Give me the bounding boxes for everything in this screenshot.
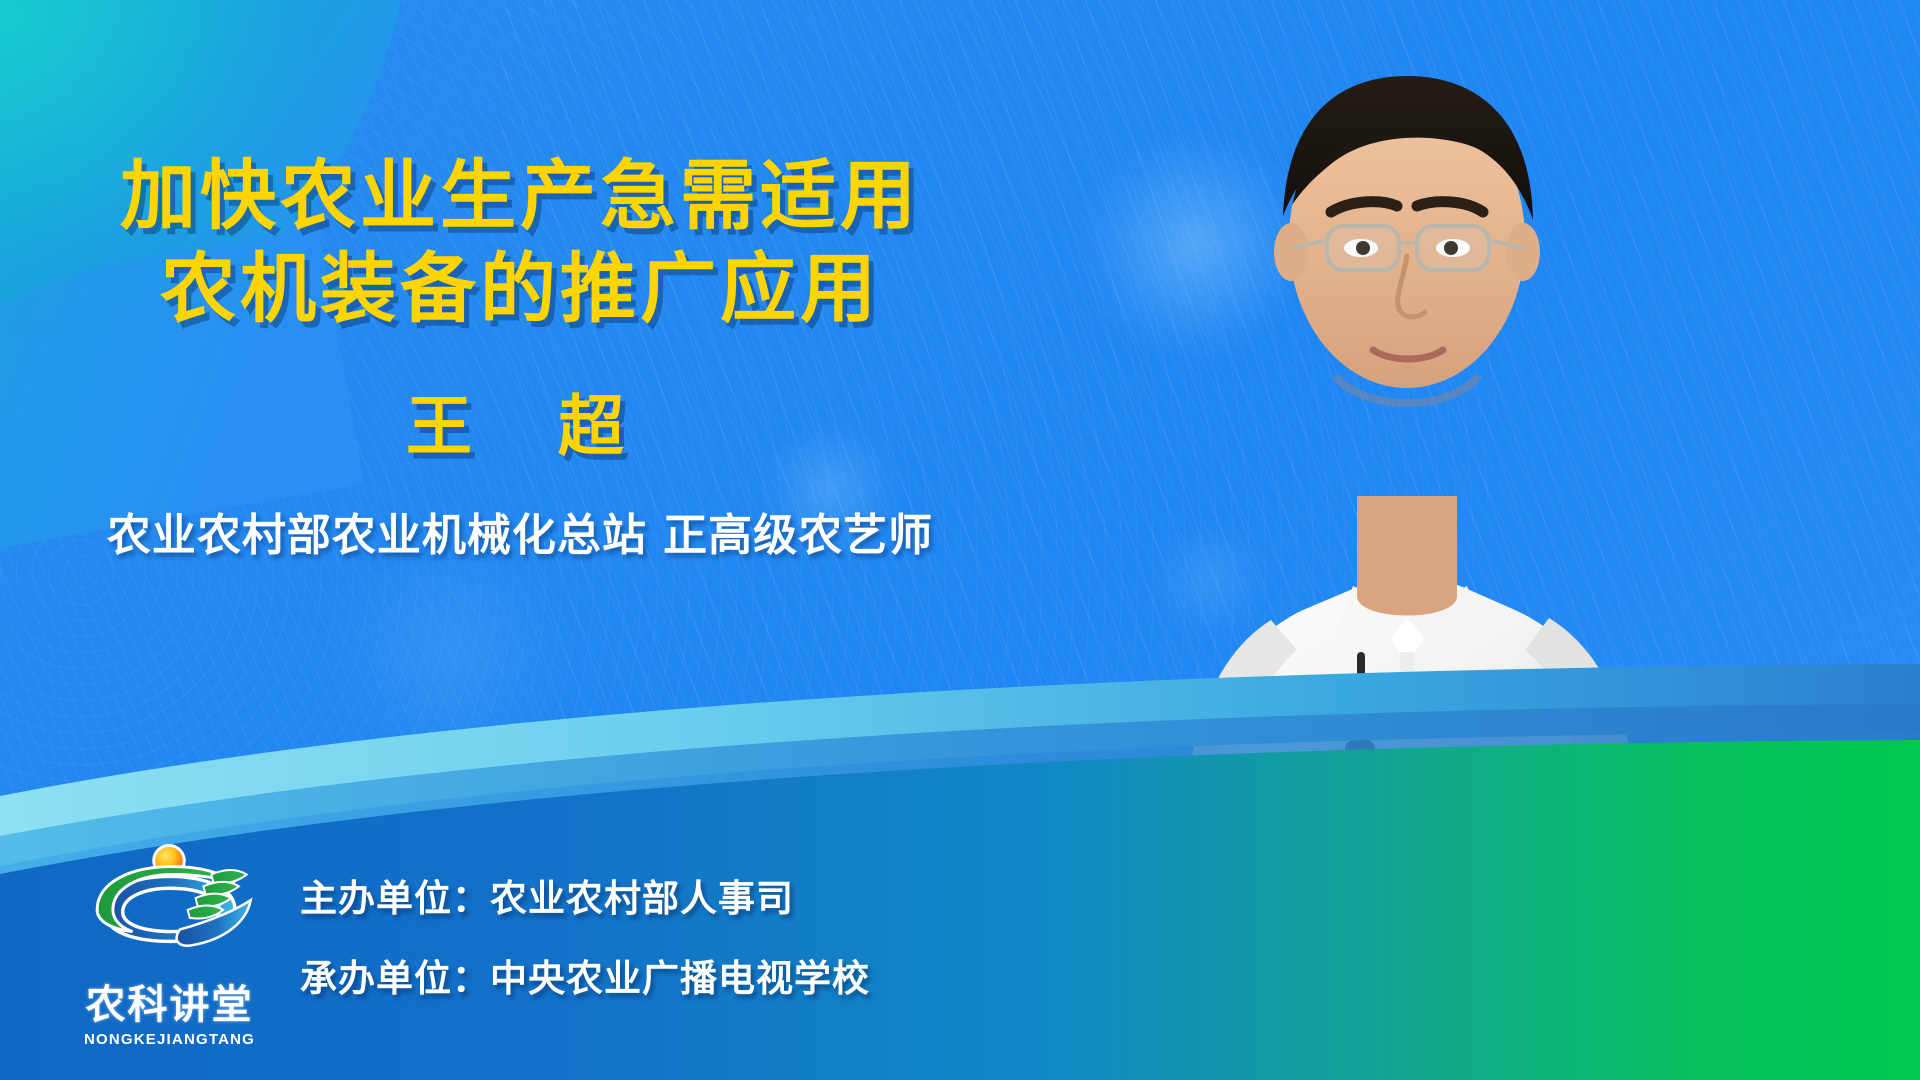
slide-canvas: 加快农业生产急需适用 农机装备的推广应用 王 超 农业农村部农业机械化总站 正高… — [0, 0, 1920, 1080]
lens-left — [1329, 228, 1397, 268]
speaker-name: 王 超 — [0, 373, 1040, 469]
ear-right — [1506, 223, 1540, 281]
logo-name-pinyin: NONGKEJIANGTANG — [62, 1031, 277, 1048]
title-line-2: 农机装备的推广应用 — [0, 243, 1040, 336]
logo-mark — [62, 839, 277, 967]
footer-credits: 主办单位：农业农村部人事司 承办单位：中央农业广播电视学校 — [300, 868, 1300, 1002]
lens-right — [1419, 228, 1487, 268]
speaker-affiliation: 农业农村部农业机械化总站 正高级农艺师 — [0, 499, 1040, 563]
title-line-1: 加快农业生产急需适用 — [0, 150, 1040, 243]
organizer-row: 主办单位：农业农村部人事司 — [300, 868, 1300, 922]
logo-name-cn: 农科讲堂 — [62, 972, 277, 1030]
title-block: 加快农业生产急需适用 农机装备的推广应用 王 超 农业农村部农业机械化总站 正高… — [0, 150, 1040, 563]
ear-left — [1274, 223, 1308, 281]
program-logo: 农科讲堂 NONGKEJIANGTANG — [62, 839, 277, 1034]
co-organizer-row: 承办单位：中央农业广播电视学校 — [300, 948, 1300, 1002]
neck — [1357, 496, 1457, 616]
